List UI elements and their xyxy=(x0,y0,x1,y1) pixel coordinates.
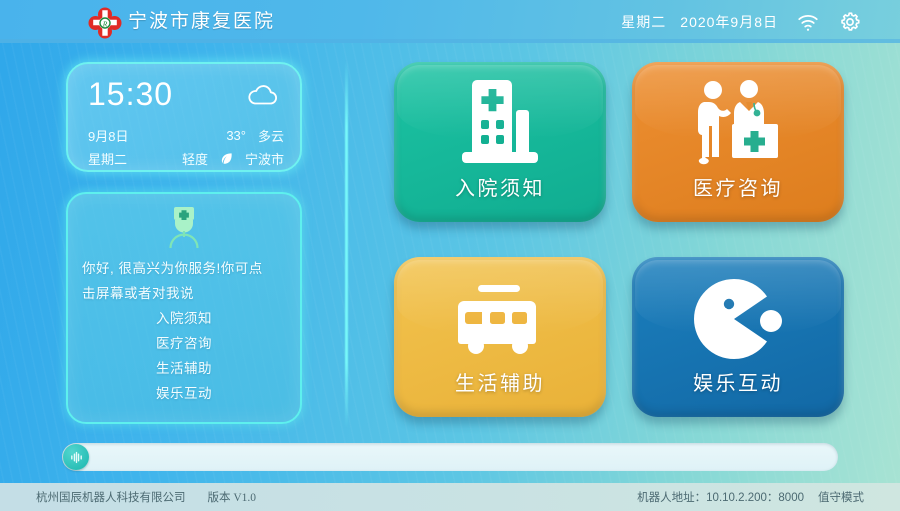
app-version: 版本 V1.0 xyxy=(208,489,257,505)
assistant-suggestion-1[interactable]: 医疗咨询 xyxy=(82,331,286,356)
weather-weekday: 星期二 xyxy=(88,149,127,168)
header-date: 2020年9月8日 xyxy=(680,12,778,32)
weather-row-primary: 9月8日 33° 多云 xyxy=(88,126,284,145)
assistant-suggestion-3[interactable]: 娱乐互动 xyxy=(82,381,286,406)
footer-left-group: 杭州国辰机器人科技有限公司 版本 V1.0 xyxy=(36,489,256,505)
tile-medical-consultation[interactable]: 医疗咨询 xyxy=(632,62,844,222)
doctor-consultation-icon xyxy=(688,76,788,172)
robot-mode: 值守模式 xyxy=(818,489,864,505)
gear-icon[interactable] xyxy=(838,10,862,34)
nurse-avatar-icon xyxy=(161,204,207,250)
pacman-icon xyxy=(688,271,788,367)
weather-card[interactable]: 15:30 9月8日 33° 多云 星期二 轻度 宁波市 xyxy=(66,62,302,172)
assistant-line-0: 你好, 很高兴为你服务!你可点 xyxy=(82,256,286,281)
weather-condition: 多云 xyxy=(258,126,284,145)
header-bar: R 宁波市康复医院 星期二 2020年9月8日 xyxy=(0,0,900,43)
tile-label: 生活辅助 xyxy=(455,367,545,396)
assistant-message-card[interactable]: 你好, 很高兴为你服务!你可点 击屏幕或者对我说 入院须知 医疗咨询 生活辅助 … xyxy=(66,192,302,424)
weather-city: 宁波市 xyxy=(245,149,284,168)
bus-icon xyxy=(450,271,550,367)
leaf-icon xyxy=(220,152,233,165)
svg-text:R: R xyxy=(102,19,108,28)
hospital-clover-cross-logo-icon: R xyxy=(88,7,122,39)
page-title: 宁波市康复医院 xyxy=(128,8,275,36)
header-status-group: 星期二 2020年9月8日 xyxy=(621,10,862,34)
tile-entertainment-interaction[interactable]: 娱乐互动 xyxy=(632,257,844,417)
voice-input-bar[interactable] xyxy=(62,443,838,471)
assistant-suggestion-2[interactable]: 生活辅助 xyxy=(82,356,286,381)
company-name: 杭州国辰机器人科技有限公司 xyxy=(36,489,186,505)
assistant-line-1: 击屏幕或者对我说 xyxy=(82,281,286,306)
header-weekday: 星期二 xyxy=(621,12,666,32)
tile-label: 入院须知 xyxy=(455,172,545,201)
cloud-icon xyxy=(246,82,280,108)
assistant-text-block: 你好, 很高兴为你服务!你可点 击屏幕或者对我说 入院须知 医疗咨询 生活辅助 … xyxy=(68,256,300,406)
air-quality-level: 轻度 xyxy=(182,149,208,168)
footer-bar: 杭州国辰机器人科技有限公司 版本 V1.0 机器人地址：10.10.2.200：… xyxy=(0,483,900,511)
weather-date: 9月8日 xyxy=(88,126,128,145)
wifi-icon[interactable] xyxy=(796,10,820,34)
tile-label: 娱乐互动 xyxy=(693,367,783,396)
assistant-suggestion-0[interactable]: 入院须知 xyxy=(82,306,286,331)
tile-life-assistance[interactable]: 生活辅助 xyxy=(394,257,606,417)
weather-row-secondary: 星期二 轻度 宁波市 xyxy=(88,149,284,168)
clock-time: 15:30 xyxy=(88,76,173,113)
tile-label: 医疗咨询 xyxy=(693,172,783,201)
robot-address: 机器人地址：10.10.2.200：8000 xyxy=(637,489,804,505)
footer-right-group: 机器人地址：10.10.2.200：8000 值守模式 xyxy=(637,489,864,505)
hospital-building-icon xyxy=(450,76,550,172)
voice-wave-icon[interactable] xyxy=(63,444,89,470)
tile-admission-notice[interactable]: 入院须知 xyxy=(394,62,606,222)
kiosk-screen: R 宁波市康复医院 星期二 2020年9月8日 xyxy=(0,0,900,511)
weather-temperature: 33° xyxy=(226,128,246,143)
vertical-divider xyxy=(345,60,348,428)
